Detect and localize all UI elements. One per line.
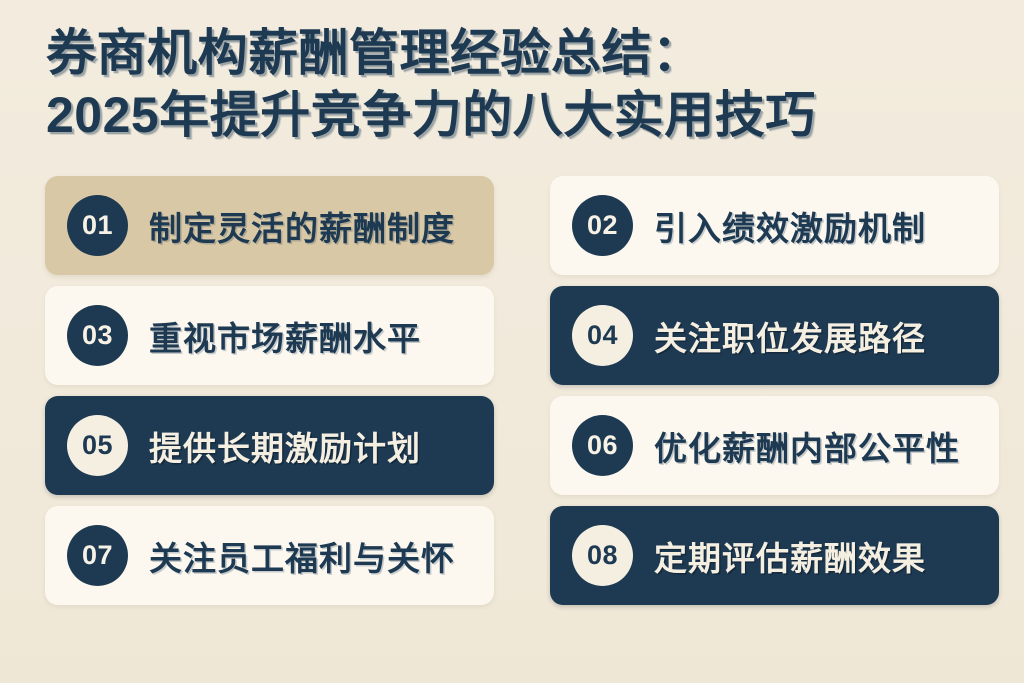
tip-card-02[interactable]: 02 引入绩效激励机制 bbox=[550, 176, 999, 275]
tip-card-03[interactable]: 03 重视市场薪酬水平 bbox=[45, 286, 494, 385]
title-line-1: 券商机构薪酬管理经验总结： bbox=[46, 22, 1024, 84]
tip-label-04: 关注职位发展路径 bbox=[654, 312, 926, 360]
tips-grid: 01 制定灵活的薪酬制度 02 引入绩效激励机制 03 重视市场薪酬水平 04 … bbox=[45, 176, 999, 605]
tip-number-badge-01: 01 bbox=[67, 195, 128, 256]
tip-label-03: 重视市场薪酬水平 bbox=[149, 312, 421, 360]
tip-number-badge-06: 06 bbox=[572, 415, 633, 476]
tip-card-04[interactable]: 04 关注职位发展路径 bbox=[550, 286, 999, 385]
tip-card-05[interactable]: 05 提供长期激励计划 bbox=[45, 396, 494, 495]
tip-card-07[interactable]: 07 关注员工福利与关怀 bbox=[45, 506, 494, 605]
title-line-2: 2025年提升竞争力的八大实用技巧 bbox=[46, 84, 1024, 146]
tip-label-05: 提供长期激励计划 bbox=[149, 422, 421, 470]
tip-number-badge-04: 04 bbox=[572, 305, 633, 366]
tip-number-badge-03: 03 bbox=[67, 305, 128, 366]
tip-label-06: 优化薪酬内部公平性 bbox=[654, 422, 960, 470]
tip-label-08: 定期评估薪酬效果 bbox=[654, 532, 926, 580]
tip-card-08[interactable]: 08 定期评估薪酬效果 bbox=[550, 506, 999, 605]
poster-canvas: 券商机构薪酬管理经验总结： 2025年提升竞争力的八大实用技巧 01 制定灵活的… bbox=[0, 0, 1024, 683]
tip-label-01: 制定灵活的薪酬制度 bbox=[149, 202, 455, 250]
tip-label-02: 引入绩效激励机制 bbox=[654, 202, 926, 250]
tip-label-07: 关注员工福利与关怀 bbox=[149, 532, 455, 580]
tip-card-06[interactable]: 06 优化薪酬内部公平性 bbox=[550, 396, 999, 495]
tip-number-badge-08: 08 bbox=[572, 525, 633, 586]
tip-number-badge-02: 02 bbox=[572, 195, 633, 256]
page-title: 券商机构薪酬管理经验总结： 2025年提升竞争力的八大实用技巧 bbox=[46, 22, 1024, 146]
tip-number-badge-07: 07 bbox=[67, 525, 128, 586]
tip-number-badge-05: 05 bbox=[67, 415, 128, 476]
tip-card-01[interactable]: 01 制定灵活的薪酬制度 bbox=[45, 176, 494, 275]
